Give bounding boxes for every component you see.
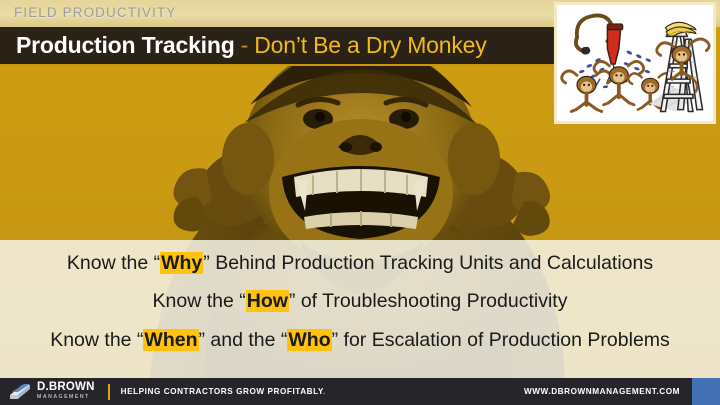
dry-monkey-cartoon-image — [554, 2, 716, 124]
logo-name: D.BROWN — [37, 382, 95, 394]
eyebrow-label: FIELD PRODUCTIVITY — [14, 5, 176, 20]
dbrown-logo-icon — [8, 383, 32, 400]
logo-subtitle: MANAGEMENT — [37, 395, 95, 400]
page-title: Production Tracking — [16, 32, 235, 59]
footer-divider — [108, 384, 110, 400]
footer-bar: D.BROWN MANAGEMENT HELPING CONTRACTORS G… — [0, 378, 720, 405]
line3-highlight-when: When — [143, 329, 198, 351]
title-subtitle: Don’t Be a Dry Monkey — [254, 32, 486, 59]
line3-part-1: Know the “ — [50, 329, 143, 351]
brand-logo[interactable]: D.BROWN MANAGEMENT — [8, 382, 95, 400]
tagline-dot: . — [323, 387, 326, 396]
title-separator: - — [241, 32, 249, 59]
line2-part-1: Know the “ — [153, 290, 246, 312]
title-bar: Production Tracking - Don’t Be a Dry Mon… — [0, 27, 557, 66]
line1-highlight-why: Why — [160, 252, 203, 274]
takeaway-line-1: Know the “Why” Behind Production Trackin… — [0, 253, 720, 273]
footer-tagline: HELPING CONTRACTORS GROW PROFITABLY. — [121, 387, 326, 396]
footer-accent-block — [692, 378, 720, 405]
takeaway-line-2: Know the “How” of Troubleshooting Produc… — [0, 291, 720, 311]
line2-highlight-how: How — [246, 290, 289, 312]
line2-part-3: ” of Troubleshooting Productivity — [289, 290, 568, 312]
line1-part-1: Know the “ — [67, 252, 160, 274]
takeaway-line-3: Know the “When” and the “Who” for Escala… — [0, 330, 720, 350]
tagline-text: HELPING CONTRACTORS GROW PROFITABLY — [121, 387, 323, 396]
slide: FIELD PRODUCTIVITY — [0, 0, 720, 405]
line1-part-3: ” Behind Production Tracking Units and C… — [203, 252, 653, 274]
takeaways-panel: Know the “Why” Behind Production Trackin… — [0, 240, 720, 378]
line3-highlight-who: Who — [287, 329, 331, 351]
footer-url[interactable]: WWW.DBROWNMANAGEMENT.COM — [524, 387, 680, 396]
line3-part-3: ” and the “ — [199, 329, 288, 351]
line3-part-5: ” for Escalation of Production Problems — [332, 329, 670, 351]
